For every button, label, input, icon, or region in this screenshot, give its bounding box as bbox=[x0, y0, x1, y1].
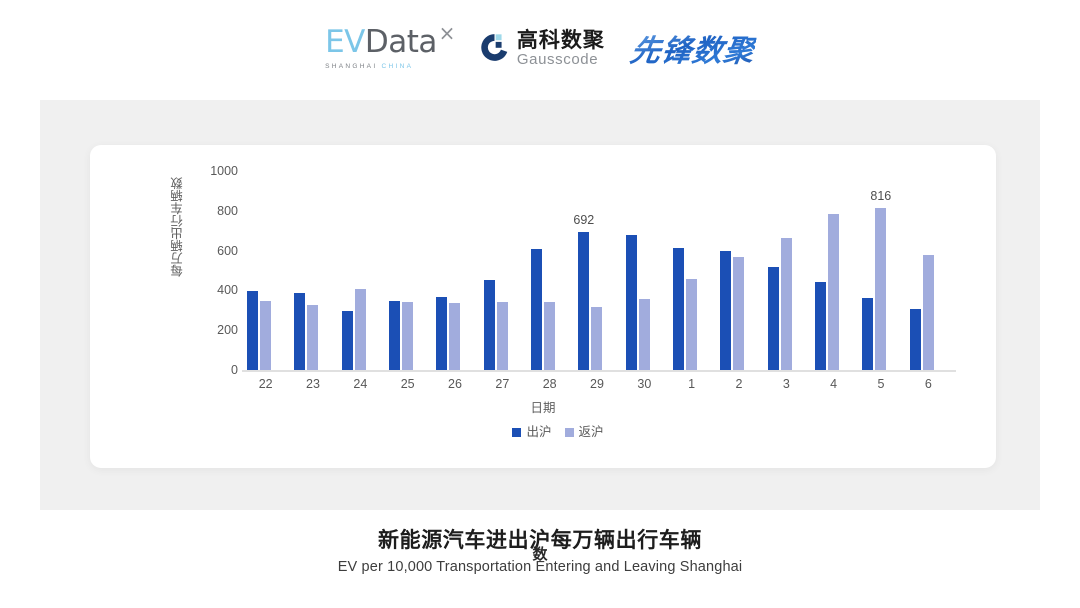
bar bbox=[436, 297, 447, 370]
evdata-wordmark: EVData × bbox=[325, 27, 437, 58]
bar-value-label: 816 bbox=[870, 189, 891, 203]
x-tick-label: 1 bbox=[688, 377, 695, 392]
bar bbox=[497, 302, 508, 370]
bar bbox=[626, 235, 637, 370]
bar bbox=[531, 249, 542, 370]
x-tick-label: 5 bbox=[878, 377, 885, 392]
y-axis-title: 每万辆出行车辆数 bbox=[172, 177, 190, 277]
legend-label: 返沪 bbox=[579, 426, 604, 439]
evdata-ev-text: EV bbox=[325, 24, 365, 60]
bar bbox=[294, 293, 305, 370]
bar-group bbox=[384, 171, 431, 370]
bar bbox=[686, 279, 697, 370]
bar bbox=[815, 282, 826, 370]
legend-swatch bbox=[512, 428, 521, 437]
gausscode-en-name: Gausscode bbox=[517, 52, 605, 67]
legend-label: 出沪 bbox=[526, 426, 551, 439]
evdata-cross-icon: × bbox=[439, 23, 455, 43]
x-tick-label: 4 bbox=[830, 377, 837, 392]
bar-group bbox=[289, 171, 336, 370]
evdata-tagline-country: CHINA bbox=[382, 63, 414, 70]
bar bbox=[862, 298, 873, 370]
bar-group bbox=[337, 171, 384, 370]
gausscode-cn-name: 高科数聚 bbox=[517, 29, 605, 51]
bar bbox=[733, 257, 744, 370]
xianfeng-shuju-logo: 先锋数聚 bbox=[627, 26, 758, 70]
bar bbox=[484, 280, 495, 370]
y-tick-label: 0 bbox=[231, 364, 238, 377]
y-tick-label: 200 bbox=[217, 324, 238, 337]
bar bbox=[342, 311, 353, 370]
gausscode-names: 高科数聚 Gausscode bbox=[517, 29, 605, 66]
x-tick-label: 3 bbox=[783, 377, 790, 392]
bar bbox=[247, 291, 258, 370]
y-tick-label: 1000 bbox=[210, 165, 238, 178]
gausscode-c-mark-icon bbox=[479, 32, 510, 63]
bar bbox=[578, 232, 589, 370]
x-axis-title: 日期 bbox=[90, 397, 996, 416]
bar-group bbox=[810, 171, 857, 370]
chart-card: 每万辆出行车辆数 02004006008001000 692816 222324… bbox=[90, 145, 996, 468]
bar-value-label: 692 bbox=[573, 213, 594, 227]
bar bbox=[544, 302, 555, 370]
bar-group bbox=[431, 171, 478, 370]
y-tick-label: 800 bbox=[217, 205, 238, 218]
x-tick-label: 24 bbox=[353, 377, 367, 392]
x-tick-label: 26 bbox=[448, 377, 462, 392]
x-axis-ticks: 222324252627282930123456 bbox=[242, 377, 952, 397]
x-tick-label: 2 bbox=[736, 377, 743, 392]
bar bbox=[389, 301, 400, 370]
x-tick-label: 23 bbox=[306, 377, 320, 392]
legend-item[interactable]: 返沪 bbox=[565, 426, 604, 439]
x-tick-label: 22 bbox=[259, 377, 273, 392]
bar bbox=[828, 214, 839, 370]
bar-group bbox=[763, 171, 810, 370]
x-tick-label: 6 bbox=[925, 377, 932, 392]
legend-item[interactable]: 出沪 bbox=[512, 426, 551, 439]
evdata-data-text: Data bbox=[365, 24, 437, 60]
bar-group bbox=[668, 171, 715, 370]
evdata-logo: EVData × SHANGHAI CHINA bbox=[325, 27, 453, 70]
y-tick-label: 600 bbox=[217, 244, 238, 257]
bar-group bbox=[242, 171, 289, 370]
bar bbox=[673, 248, 684, 370]
x-tick-label: 29 bbox=[590, 377, 604, 392]
chart-legend: 出沪返沪 bbox=[90, 426, 996, 439]
logo-bar: EVData × SHANGHAI CHINA 高科数聚 Gausscode 先… bbox=[0, 0, 1080, 96]
y-tick-label: 400 bbox=[217, 284, 238, 297]
x-tick-label: 27 bbox=[495, 377, 509, 392]
x-tick-label: 25 bbox=[401, 377, 415, 392]
bar bbox=[260, 301, 271, 370]
bar-group bbox=[526, 171, 573, 370]
bar-group bbox=[715, 171, 762, 370]
bar bbox=[910, 309, 921, 370]
bar bbox=[875, 208, 886, 370]
plot-area: 692816 bbox=[242, 171, 952, 370]
bar-group bbox=[621, 171, 668, 370]
caption-block: 新能源汽车进出沪每万辆出行车辆 数 EV per 10,000 Transpor… bbox=[0, 528, 1080, 575]
evdata-tagline: SHANGHAI CHINA bbox=[325, 63, 413, 70]
bar bbox=[639, 299, 650, 370]
x-tick-label: 28 bbox=[543, 377, 557, 392]
y-axis-ticks: 02004006008001000 bbox=[192, 171, 238, 370]
bar-chart: 每万辆出行车辆数 02004006008001000 692816 222324… bbox=[90, 145, 996, 468]
bar bbox=[923, 255, 934, 370]
bar bbox=[768, 267, 779, 370]
bar bbox=[720, 251, 731, 370]
caption-subtitle: EV per 10,000 Transportation Entering an… bbox=[0, 559, 1080, 575]
bar bbox=[307, 305, 318, 370]
bar bbox=[355, 289, 366, 370]
evdata-tagline-city: SHANGHAI bbox=[325, 63, 377, 70]
legend-swatch bbox=[565, 428, 574, 437]
bar bbox=[449, 303, 460, 370]
gausscode-logo: 高科数聚 Gausscode bbox=[479, 29, 605, 66]
bar bbox=[402, 302, 413, 370]
caption-title: 新能源汽车进出沪每万辆出行车辆 bbox=[0, 528, 1080, 552]
x-axis-baseline bbox=[242, 370, 956, 372]
bar bbox=[781, 238, 792, 370]
bar bbox=[591, 307, 602, 370]
bar-group bbox=[479, 171, 526, 370]
bar-group bbox=[573, 171, 620, 370]
bar-group bbox=[905, 171, 952, 370]
x-tick-label: 30 bbox=[637, 377, 651, 392]
